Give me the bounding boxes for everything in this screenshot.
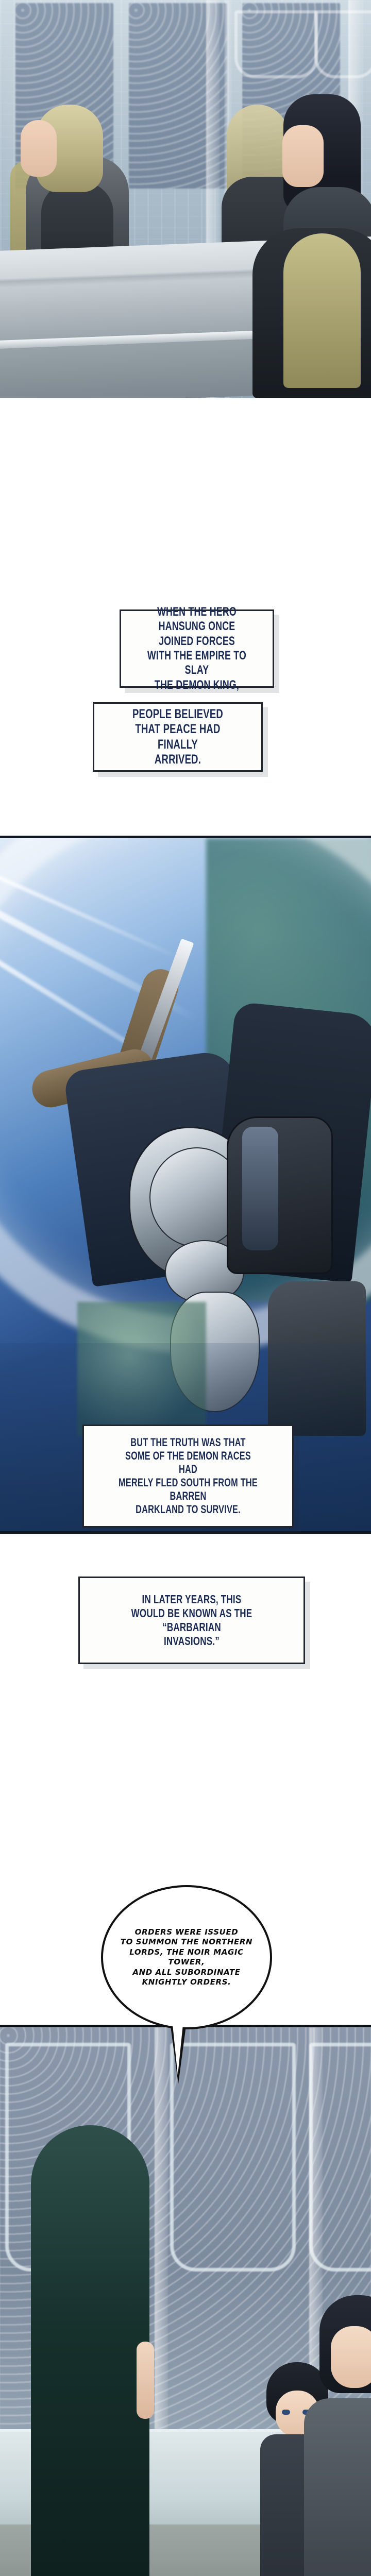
speech-bubble-orders-text: ORDERS WERE ISSUED TO SUMMON THE NORTHER… xyxy=(115,1927,259,1988)
foreground-chair-gilding xyxy=(283,233,361,388)
speech-bubble-orders-tail-fill xyxy=(172,2020,183,2075)
seated-figure-neck-skin xyxy=(137,2342,154,2419)
wall-panel-center xyxy=(170,2043,296,2272)
caption-barbarian-invasions: IN LATER YEARS, THIS WOULD BE KNOWN AS T… xyxy=(78,1577,305,1664)
seated-figure-long-hair xyxy=(31,2125,149,2576)
caption-hero-text: WHEN THE HERO HANSUNG ONCE JOINED FORCES… xyxy=(144,605,250,692)
caption-hero-hansung: WHEN THE HERO HANSUNG ONCE JOINED FORCES… xyxy=(120,609,274,688)
caption-barbarian-text: IN LATER YEARS, THIS WOULD BE KNOWN AS T… xyxy=(113,1592,271,1649)
boy-eye-left xyxy=(282,2410,290,2415)
throne-pillar-left xyxy=(155,2027,168,2429)
council-chamber-panel xyxy=(0,0,371,401)
wall-arch-ornament xyxy=(234,10,318,78)
comic-page: WHEN THE HERO HANSUNG ONCE JOINED FORCES… xyxy=(0,0,371,2576)
caption-but-the-truth: BUT THE TRUTH WAS THAT SOME OF THE DEMON… xyxy=(82,1425,294,1528)
wall-arch-ornament-right xyxy=(314,10,371,78)
blond-knight-face xyxy=(21,120,57,177)
caption-peace-text: PEOPLE BELIEVED THAT PEACE HAD FINALLY A… xyxy=(119,707,237,768)
speech-bubble-orders-issued: ORDERS WERE ISSUED TO SUMMON THE NORTHER… xyxy=(101,1885,272,2029)
dark-knight-face xyxy=(282,125,324,187)
adult-figure xyxy=(319,2295,371,2576)
caption-people-believed-peace: PEOPLE BELIEVED THAT PEACE HAD FINALLY A… xyxy=(93,702,263,772)
adult-coat xyxy=(304,2398,371,2576)
throne-room-panel xyxy=(0,2025,371,2576)
adult-face xyxy=(331,2326,371,2388)
warrior-sash xyxy=(242,1127,278,1250)
caption-truth-text: BUT THE TRUTH WAS THAT SOME OF THE DEMON… xyxy=(115,1436,261,1516)
